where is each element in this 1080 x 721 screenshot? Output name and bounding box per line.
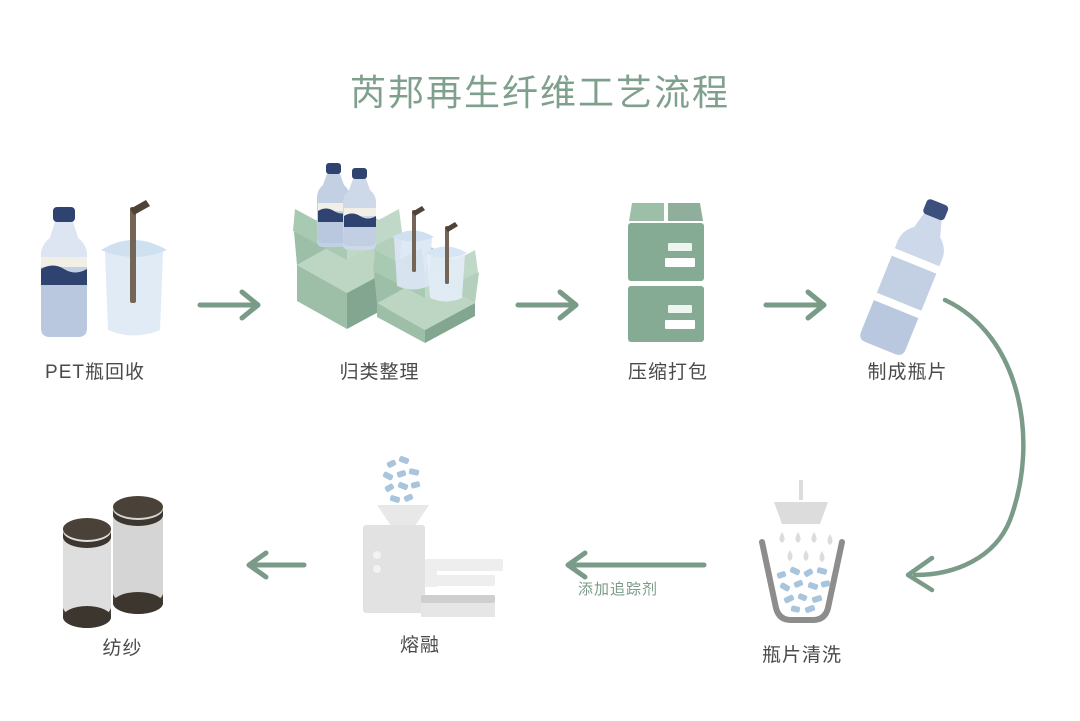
arrow-5-note: 添加追踪剂 xyxy=(578,578,658,599)
step-spinning[interactable]: 纺纱 xyxy=(45,485,200,635)
pet-bottle-and-cup-icon xyxy=(5,195,185,345)
page-title: 芮邦再生纤维工艺流程 xyxy=(0,64,1080,116)
arrow-4-curve-down-left xyxy=(880,290,1080,590)
stacked-bales-icon xyxy=(583,195,753,345)
step-pet-bottle-recycling[interactable]: PET瓶回收 xyxy=(5,195,185,345)
step-flake-washing[interactable]: 瓶片清洗 xyxy=(722,480,882,630)
step-label-sorting: 归类整理 xyxy=(272,357,487,384)
step-label-flake-washing: 瓶片清洗 xyxy=(722,640,882,667)
step-compress-baling[interactable]: 压缩打包 xyxy=(583,195,753,345)
shower-basin-icon xyxy=(722,480,882,630)
step-label-melting: 熔融 xyxy=(325,630,515,657)
step-label-spinning: 纺纱 xyxy=(45,633,200,660)
step-sorting[interactable]: 归类整理 xyxy=(272,160,487,310)
arrow-1-right xyxy=(198,288,268,322)
step-label-compress-baling: 压缩打包 xyxy=(583,357,753,384)
diagram-canvas: 芮邦再生纤维工艺流程 xyxy=(0,0,1080,721)
arrow-5-left xyxy=(552,550,707,580)
arrow-6-left xyxy=(240,550,310,580)
sorting-boxes-icon xyxy=(272,160,487,310)
step-label-pet-bottle-recycling: PET瓶回收 xyxy=(5,357,185,384)
arrow-2-right xyxy=(516,288,586,322)
melting-machine-icon xyxy=(325,455,515,605)
step-melting[interactable]: 熔融 xyxy=(325,455,515,605)
yarn-spools-icon xyxy=(45,485,200,635)
